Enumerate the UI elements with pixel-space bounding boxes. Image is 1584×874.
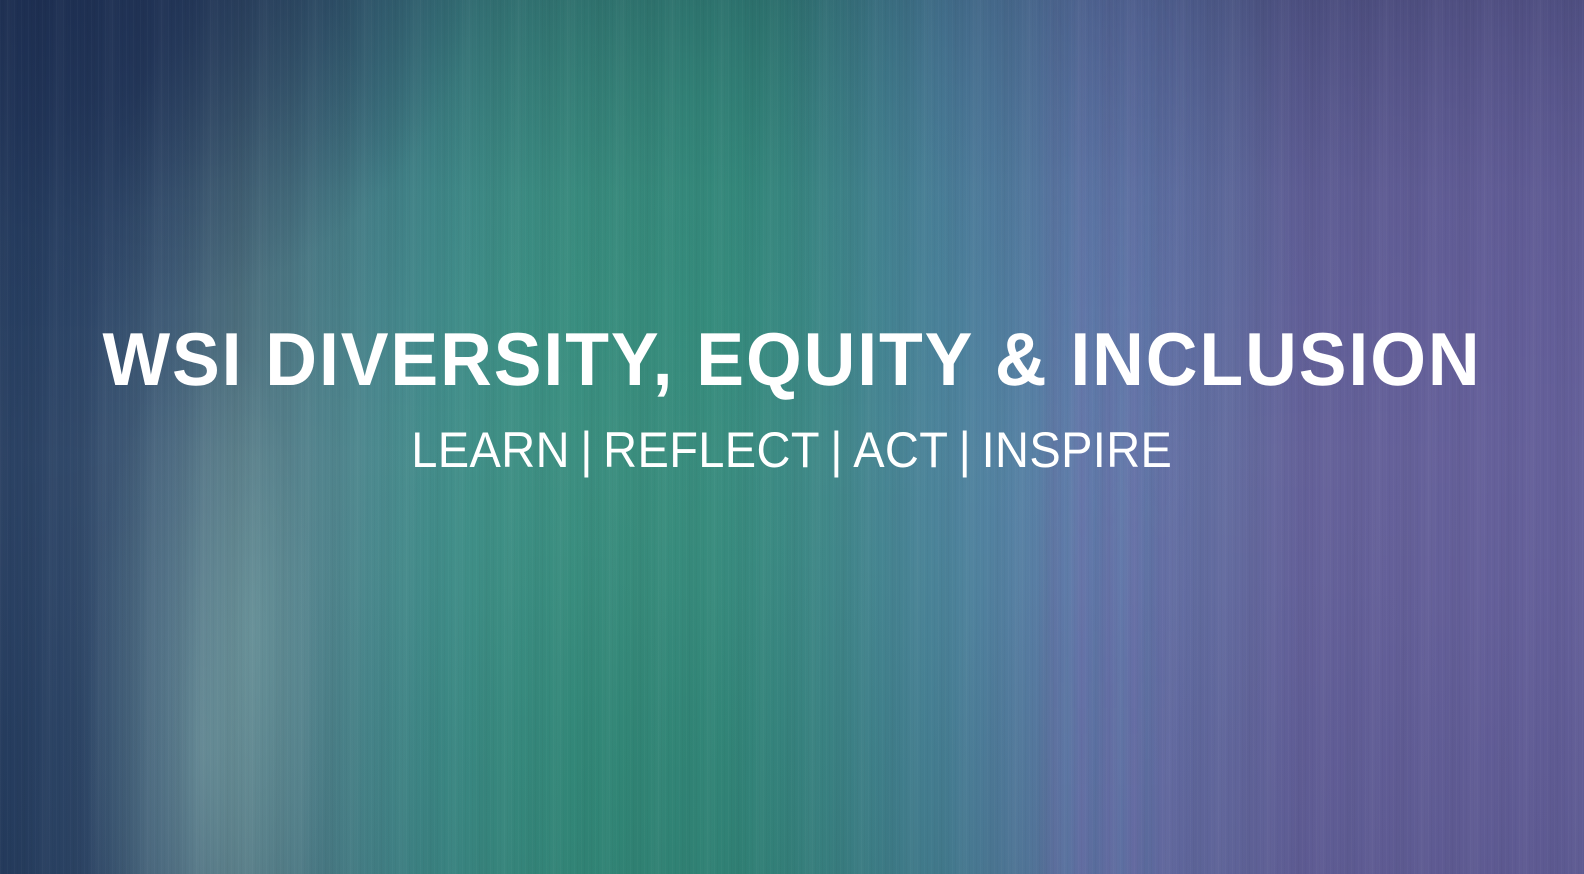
dei-banner: WSI DIVERSITY, EQUITY & INCLUSION LEARN|… bbox=[0, 0, 1584, 874]
tagline-separator-2: | bbox=[820, 422, 853, 478]
tagline-word-act: ACT bbox=[853, 422, 948, 478]
banner-tagline: LEARN|REFLECT|ACT|INSPIRE bbox=[411, 397, 1172, 475]
tagline-word-reflect: REFLECT bbox=[603, 422, 820, 478]
tagline-word-learn: LEARN bbox=[411, 422, 570, 478]
tagline-separator-1: | bbox=[570, 422, 603, 478]
banner-headline: WSI DIVERSITY, EQUITY & INCLUSION bbox=[103, 322, 1482, 397]
tagline-word-inspire: INSPIRE bbox=[982, 422, 1173, 478]
tagline-separator-3: | bbox=[949, 422, 982, 478]
banner-content: WSI DIVERSITY, EQUITY & INCLUSION LEARN|… bbox=[0, 0, 1584, 874]
